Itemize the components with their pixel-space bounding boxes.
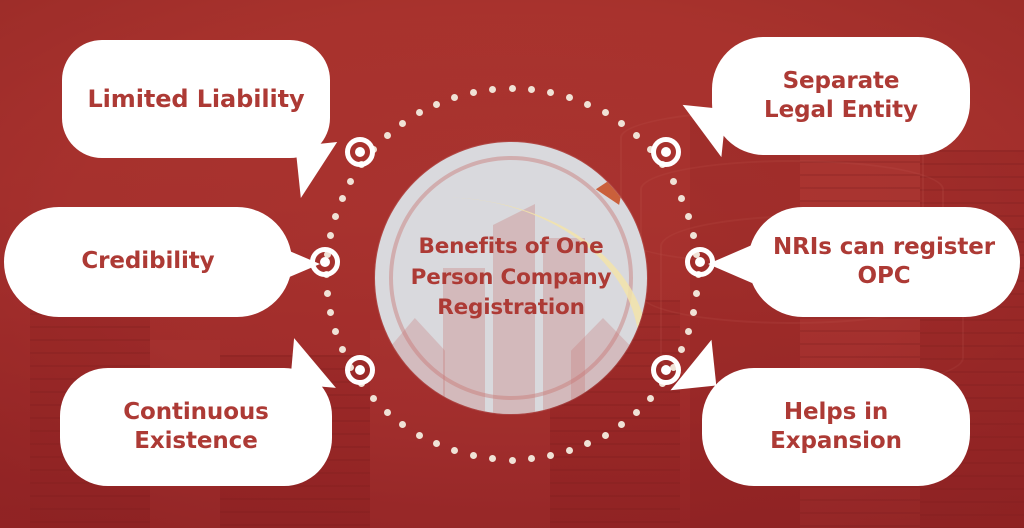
benefit-bubble-limited-liability[interactable]: Limited Liability xyxy=(62,40,330,158)
bubble-tail xyxy=(678,105,727,157)
bubble-tail xyxy=(290,338,340,388)
ring-dot-icon xyxy=(345,355,375,385)
bubble-tail xyxy=(280,247,320,281)
benefit-label: Helps in Expansion xyxy=(756,398,916,457)
benefit-label: NRIs can register OPC xyxy=(759,233,1009,292)
ring-dot-icon xyxy=(651,137,681,167)
benefit-bubble-helps-in-expansion[interactable]: Helps in Expansion xyxy=(702,368,970,486)
center-medallion: Benefits of One Person Company Registrat… xyxy=(375,142,647,414)
benefit-bubble-credibility[interactable]: Credibility xyxy=(4,207,292,317)
bubble-tail xyxy=(666,340,717,391)
benefit-bubble-nris-can-register-opc[interactable]: NRIs can register OPC xyxy=(748,207,1020,317)
benefit-label: Continuous Existence xyxy=(109,398,283,457)
benefit-label: Credibility xyxy=(67,247,228,276)
center-title: Benefits of One Person Company Registrat… xyxy=(375,232,647,324)
ring-dot-icon xyxy=(345,137,375,167)
benefit-label: Limited Liability xyxy=(73,84,318,115)
bubble-tail xyxy=(295,142,342,198)
bubble-tail xyxy=(708,245,752,283)
benefit-bubble-continuous-existence[interactable]: Continuous Existence xyxy=(60,368,332,486)
benefit-bubble-separate-legal-entity[interactable]: Separate Legal Entity xyxy=(712,37,970,155)
infographic-canvas: Benefits of One Person Company Registrat… xyxy=(0,0,1024,528)
benefit-label: Separate Legal Entity xyxy=(750,67,932,126)
